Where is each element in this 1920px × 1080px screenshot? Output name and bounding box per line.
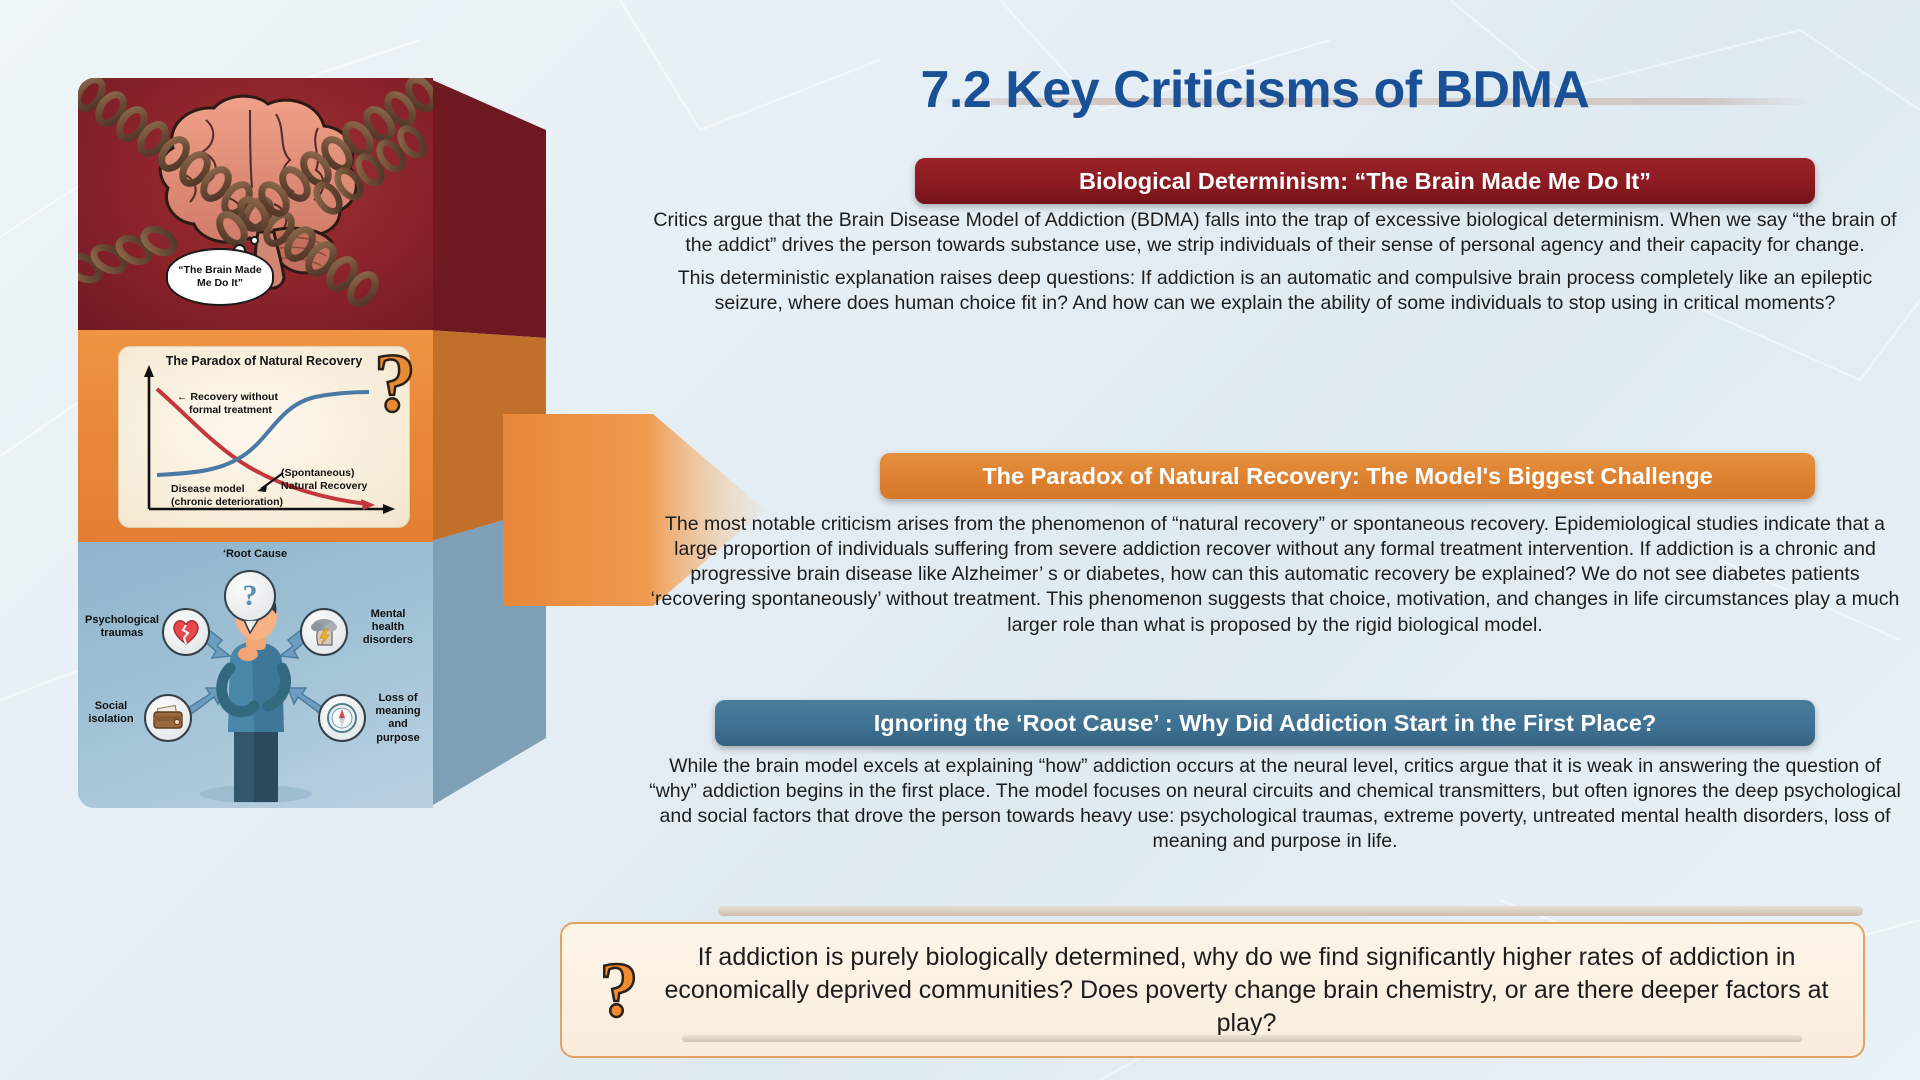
factor-label-loss-of-meaning: Loss of meaning and purpose bbox=[366, 692, 430, 745]
bubble-line-2: Me Do It” bbox=[178, 277, 261, 290]
annotation-line-2: Natural Recovery bbox=[281, 480, 367, 493]
storm-cloud-head-icon bbox=[300, 608, 348, 656]
callout-text: If addiction is purely biologically dete… bbox=[658, 941, 1863, 1040]
factor-label-psychological-traumas: Psychological traumas bbox=[80, 614, 164, 640]
bubble-line-1: “The Brain Made bbox=[178, 264, 261, 277]
broken-heart-icon bbox=[162, 608, 210, 656]
root-cause-question-icon: ? bbox=[224, 570, 276, 622]
page-title: 7.2 Key Criticisms of BDMA bbox=[640, 60, 1870, 120]
annotation-line-1: (Spontaneous) bbox=[281, 467, 367, 480]
factor-label-social-isolation: Social isolation bbox=[78, 700, 144, 726]
thought-bubble: “The Brain Made Me Do It” bbox=[166, 248, 274, 306]
question-mark-icon: ? bbox=[580, 951, 658, 1029]
compass-icon bbox=[318, 694, 366, 742]
section-heading-biological-determinism: Biological Determinism: “The Brain Made … bbox=[915, 158, 1815, 204]
annotation-spontaneous-recovery: (Spontaneous) Natural Recovery bbox=[281, 467, 367, 492]
content-column: 7.2 Key Criticisms of BDMA Biological De… bbox=[640, 0, 1920, 1080]
section-heading-ignoring-root-cause: Ignoring the ‘Root Cause’ : Why Did Addi… bbox=[715, 700, 1815, 746]
callout-box: ? If addiction is purely biologically de… bbox=[560, 922, 1865, 1058]
annotation-recovery-without-treatment: ← Recovery without formal treatment bbox=[177, 391, 278, 416]
section-1-paragraph-2: This deterministic explanation raises de… bbox=[645, 266, 1905, 316]
root-cause-title: ‘Root Cause bbox=[200, 548, 310, 561]
chart-title: The Paradox of Natural Recovery bbox=[119, 354, 409, 368]
section-3-paragraph-1: While the brain model excels at explaini… bbox=[645, 754, 1905, 855]
callout-bottom-decoration bbox=[682, 1035, 1802, 1042]
annotation-line-2: (chronic deterioration) bbox=[171, 496, 283, 509]
annotation-arrow-icon bbox=[255, 471, 285, 493]
bubble-tail-icon bbox=[242, 620, 260, 634]
annotation-line-1: ← Recovery without bbox=[177, 391, 278, 404]
thought-bubble-dot-small bbox=[250, 236, 259, 245]
chained-brain-panel: “The Brain Made Me Do It” bbox=[78, 78, 433, 330]
factor-label-mental-health-disorders: Mental health disorders bbox=[346, 608, 430, 648]
wallet-icon bbox=[144, 694, 192, 742]
section-1-paragraph-1: Critics argue that the Brain Disease Mod… bbox=[645, 208, 1905, 258]
callout-top-decoration bbox=[718, 906, 1863, 916]
section-2-paragraph-1: The most notable criticism arises from t… bbox=[645, 512, 1905, 638]
natural-recovery-chart: The Paradox of Natural Recovery ← Recove… bbox=[118, 346, 410, 528]
section-heading-paradox-natural-recovery: The Paradox of Natural Recovery: The Mod… bbox=[880, 453, 1815, 499]
bdma-illustration: “The Brain Made Me Do It” The Paradox of… bbox=[78, 78, 508, 808]
annotation-line-2: formal treatment bbox=[189, 404, 278, 417]
chart-question-mark-icon: ? bbox=[374, 342, 416, 426]
root-cause-panel: ? ‘Root Cause Psychological traumas bbox=[78, 542, 433, 808]
